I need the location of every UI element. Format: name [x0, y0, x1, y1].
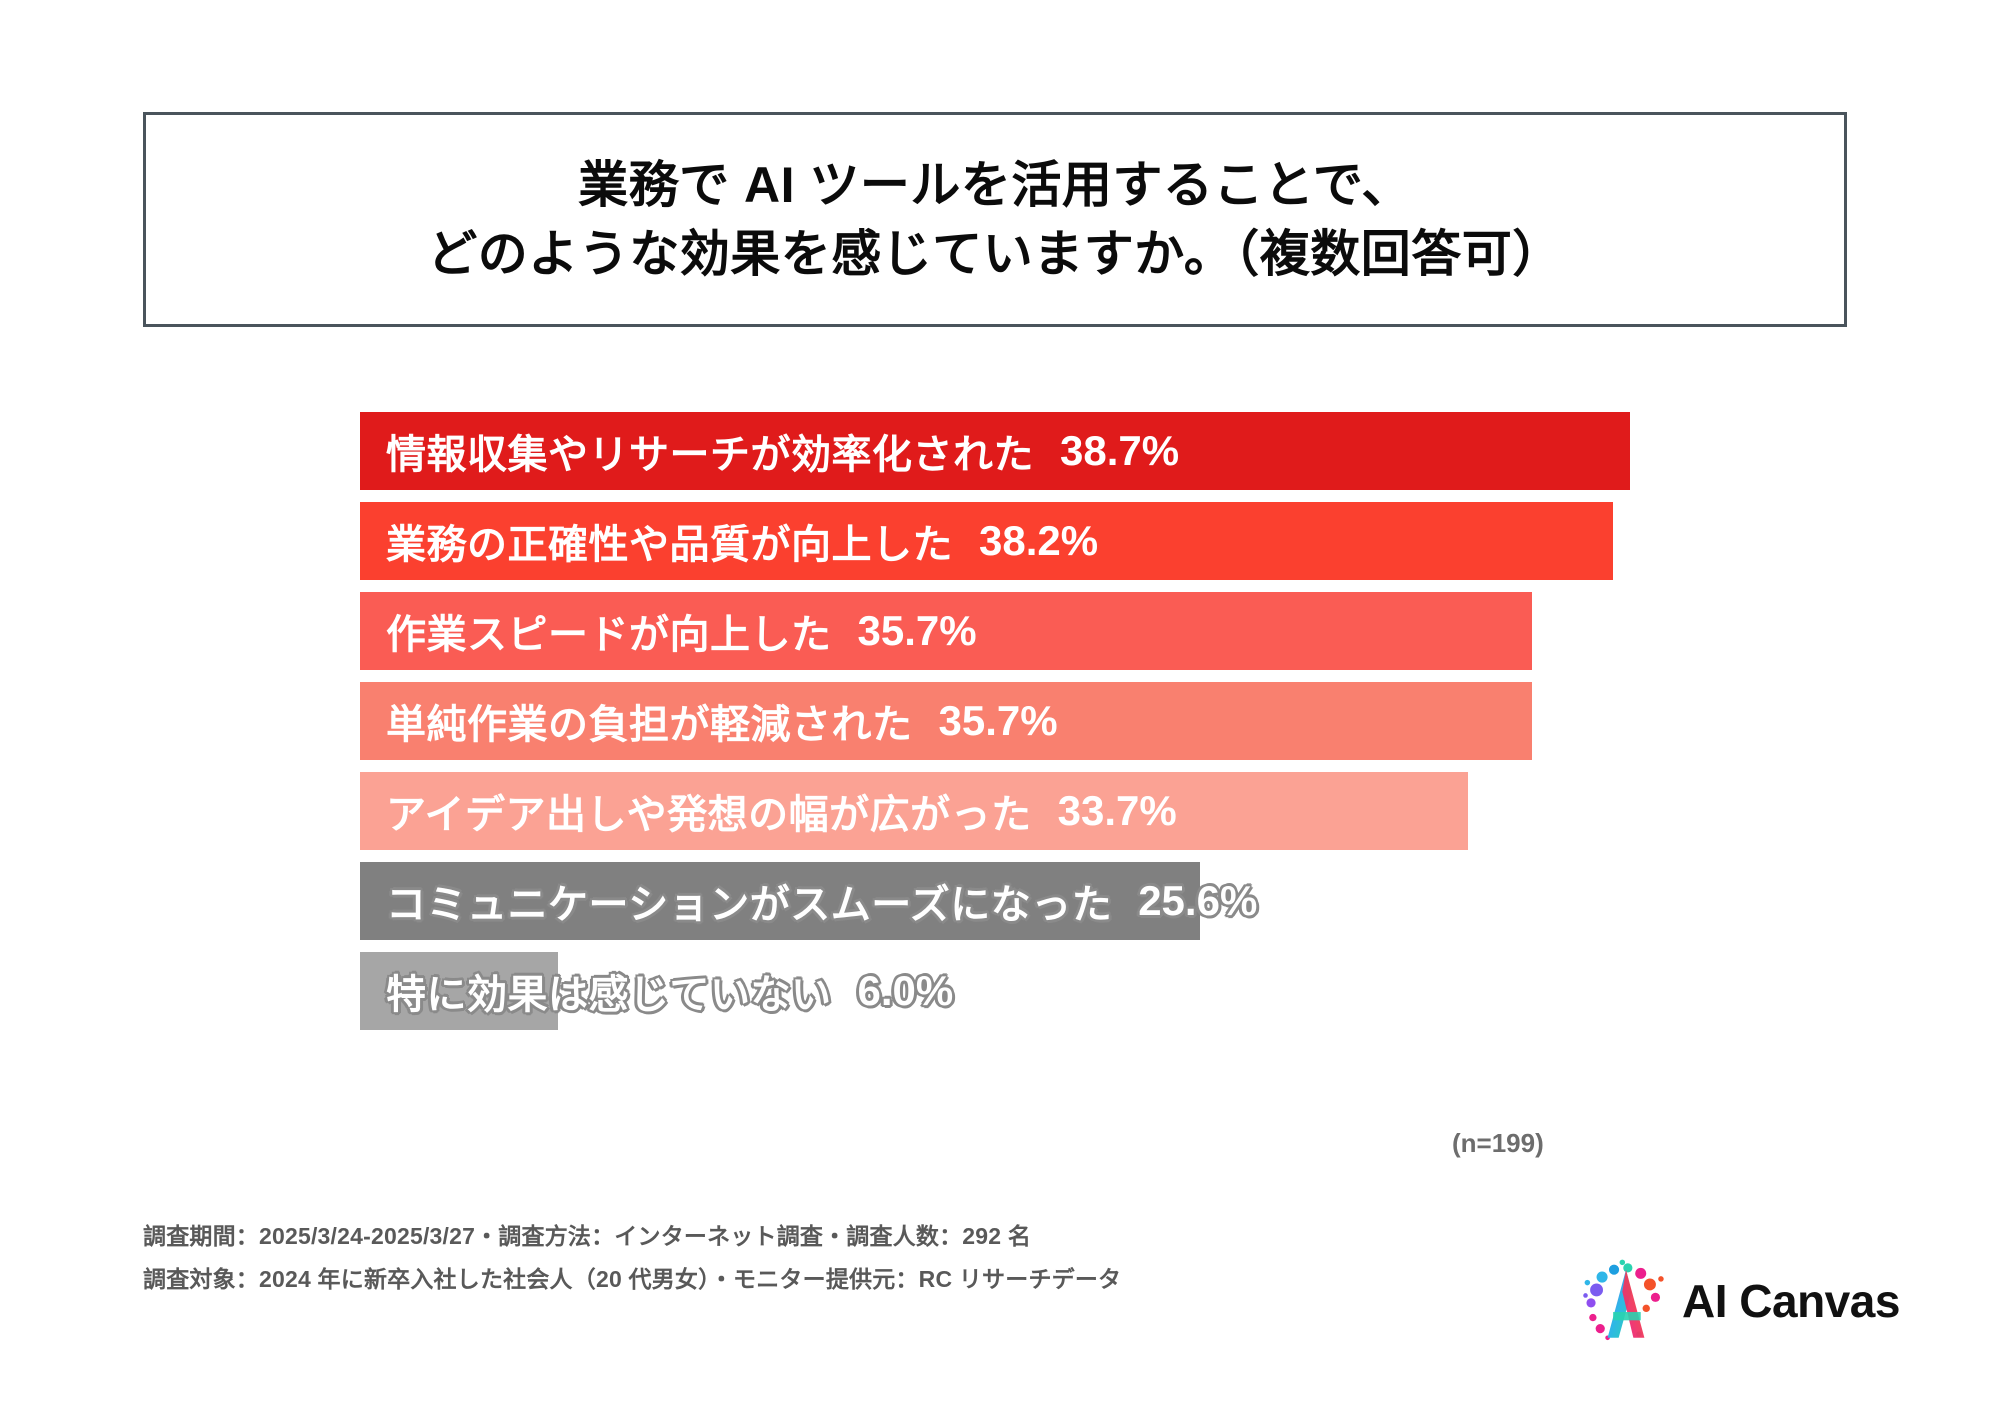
- bar-value-label: 38.2%: [979, 517, 1098, 565]
- ai-canvas-splatter-a-icon: [1580, 1255, 1672, 1347]
- bar-value-label: 35.7%: [858, 607, 977, 655]
- bar-category-label: 特に効果は感じていない: [386, 962, 832, 1020]
- infographic-page: 業務で AI ツールを活用することで、 どのような効果を感じていますか。（複数回…: [0, 0, 2000, 1414]
- bar-category-label: アイデア出しや発想の幅が広がった: [386, 782, 1032, 840]
- bar-category-label: 作業スピードが向上した: [386, 602, 832, 660]
- bar-category-label: コミュニケーションがスムーズになった: [386, 872, 1112, 930]
- bar-category-label: 情報収集やリサーチが効率化された: [386, 422, 1034, 480]
- bar-value-label: 6.0%: [858, 967, 954, 1015]
- bar-label: 情報収集やリサーチが効率化された38.7%: [386, 412, 1179, 490]
- survey-footnotes: 調査期間：2025/3/24-2025/3/27・調査方法：インターネット調査・…: [143, 1225, 1443, 1311]
- bar-category-label: 単純作業の負担が軽減された: [386, 692, 913, 750]
- bar-value-label: 25.6%: [1138, 877, 1257, 925]
- bar-label: 単純作業の負担が軽減された35.7%: [386, 682, 1058, 760]
- bar-value-label: 33.7%: [1058, 787, 1177, 835]
- brand-name: AI Canvas: [1682, 1274, 1900, 1328]
- bar-value-label: 38.7%: [1060, 427, 1179, 475]
- horizontal-bar-chart: 情報収集やリサーチが効率化された38.7%業務の正確性や品質が向上した38.2%…: [0, 0, 2000, 1414]
- bar-label: 作業スピードが向上した35.7%: [386, 592, 977, 670]
- brand-logo: AI Canvas: [1580, 1255, 1900, 1347]
- bar-label: アイデア出しや発想の幅が広がった33.7%: [386, 772, 1177, 850]
- bar-label: 特に効果は感じていない6.0%: [386, 952, 953, 1030]
- footnote-line-1: 調査期間：2025/3/24-2025/3/27・調査方法：インターネット調査・…: [143, 1225, 1443, 1248]
- bar-label: コミュニケーションがスムーズになった25.6%: [386, 862, 1257, 940]
- sample-size-note: (n=199): [1452, 1128, 1544, 1159]
- bar-label: 業務の正確性や品質が向上した38.2%: [386, 502, 1098, 580]
- footnote-line-2: 調査対象：2024 年に新卒入社した社会人（20 代男女）・モニター提供元：RC…: [143, 1268, 1443, 1291]
- bar-value-label: 35.7%: [939, 697, 1058, 745]
- bar-category-label: 業務の正確性や品質が向上した: [386, 512, 953, 570]
